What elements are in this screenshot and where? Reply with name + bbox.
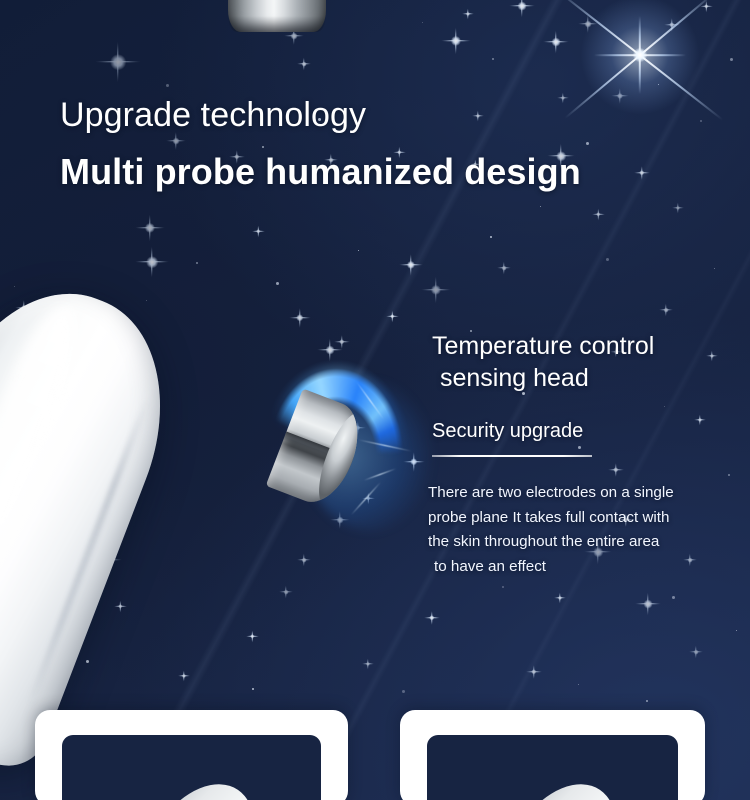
- dust-speck: [422, 22, 423, 23]
- dust-speck: [578, 684, 579, 685]
- dust-speck: [664, 406, 665, 407]
- headline-primary: Upgrade technology: [60, 96, 366, 135]
- dust-speck: [358, 250, 359, 251]
- thumbnail-card-left[interactable]: [35, 710, 348, 800]
- dust-speck: [276, 282, 279, 285]
- feature-title: Temperature control sensing head: [432, 330, 722, 395]
- dust-speck: [672, 596, 675, 599]
- dust-speck: [166, 84, 169, 87]
- feature-title-line-1: Temperature control: [432, 330, 722, 362]
- body-line-2: probe plane It takes full contact with: [428, 506, 720, 531]
- dust-speck: [196, 262, 198, 264]
- dust-speck: [86, 660, 89, 663]
- dust-speck: [728, 474, 730, 476]
- dust-speck: [490, 236, 492, 238]
- dust-speck: [578, 446, 581, 449]
- thumbnail-image-panel: [62, 735, 321, 800]
- dust-speck: [586, 142, 589, 145]
- thumbnail-image-panel: [427, 735, 678, 800]
- dust-speck: [730, 58, 733, 61]
- dust-speck: [714, 268, 715, 269]
- probe-thumbnail-shape: [116, 764, 276, 800]
- dust-speck: [402, 690, 405, 693]
- title-divider: [432, 455, 592, 457]
- metal-cylinder-icon: [228, 0, 326, 32]
- dust-speck: [146, 300, 147, 301]
- thumbnail-card-right[interactable]: [400, 710, 705, 800]
- dust-speck: [540, 206, 541, 207]
- dust-speck: [502, 586, 504, 588]
- dust-speck: [736, 630, 737, 631]
- dust-speck: [492, 58, 494, 60]
- headline-secondary: Multi probe humanized design: [60, 151, 581, 193]
- feature-title-line-2: sensing head: [432, 362, 722, 394]
- dust-speck: [252, 688, 254, 690]
- feature-subtitle: Security upgrade: [432, 420, 583, 443]
- dust-speck: [646, 700, 648, 702]
- feature-body-text: There are two electrodes on a single pro…: [428, 481, 720, 579]
- body-line-3: the skin throughout the entire area: [428, 530, 720, 555]
- dust-speck: [606, 258, 609, 261]
- body-line-1: There are two electrodes on a single: [428, 481, 720, 506]
- probe-thumbnail-shape: [478, 764, 638, 800]
- body-line-4: to have an effect: [428, 555, 720, 580]
- product-feature-banner: Upgrade technology Multi probe humanized…: [0, 0, 750, 800]
- dust-speck: [262, 146, 264, 148]
- dust-speck: [700, 120, 702, 122]
